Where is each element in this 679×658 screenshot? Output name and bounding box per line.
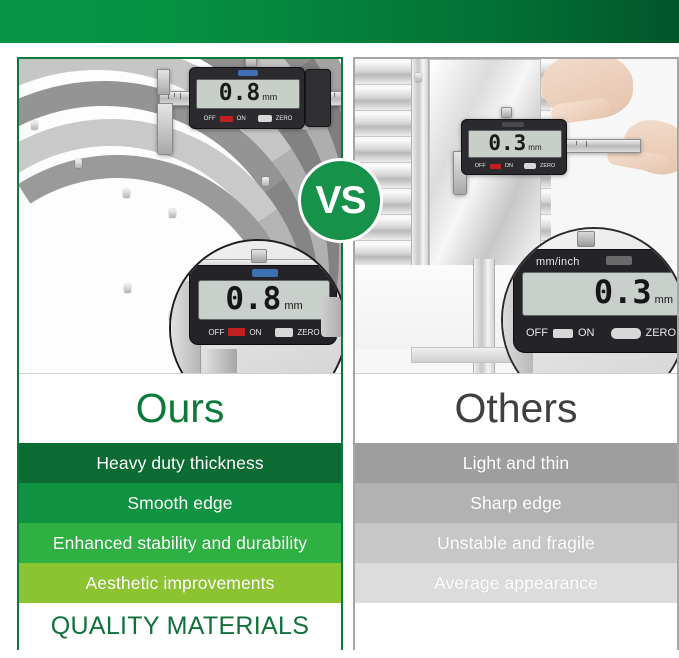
ours-feature-row-4: Aesthetic improvements	[19, 563, 341, 603]
caliper-zero-button	[258, 115, 272, 122]
panel-bolt	[262, 177, 269, 186]
magnified-zero-button	[275, 328, 293, 337]
others-heading: Others	[355, 373, 677, 443]
magnified-caliper-housing: mm/inch 0.3 mm OFF ON ZERO	[513, 249, 677, 353]
ours-feature-list: Heavy duty thickness Smooth edge Enhance…	[19, 443, 341, 603]
magnified-off-label: OFF	[526, 327, 548, 339]
caliper-jaw	[157, 69, 170, 95]
magnified-caliper-unit: mm	[655, 294, 673, 306]
others-product-photo: 0.3 mm OFF ON ZERO	[355, 59, 677, 373]
caliper-mode-strip	[502, 122, 524, 127]
caliper-mode-strip	[238, 70, 258, 76]
vs-badge: VS	[301, 161, 380, 240]
caliper-on-label: ON	[237, 116, 246, 122]
caliper-value: 0.3	[488, 131, 526, 155]
ours-feature-row-3: Enhanced stability and durability	[19, 523, 341, 563]
magnified-caliper-readout: 0.3 mm	[522, 272, 677, 316]
ours-footer-note: QUALITY MATERIALS	[19, 603, 341, 650]
top-green-banner	[0, 0, 679, 43]
magnified-zero-label: ZERO	[646, 327, 677, 339]
magnifier-circle-ours: 0.8 mm OFF ON ZERO	[169, 239, 341, 373]
caliper-button-row: OFF ON ZERO	[468, 161, 562, 171]
caliper-thumb-wheel	[245, 59, 257, 67]
caliper-zero-label: ZERO	[276, 116, 293, 122]
panel-bolt	[415, 73, 422, 82]
caliper-button-row: OFF ON ZERO	[196, 113, 300, 124]
caliper-readout-small: 0.3 mm	[468, 130, 562, 158]
caliper-readout-small: 0.8 mm	[196, 79, 300, 109]
caliper-zero-button	[524, 163, 536, 169]
magnified-mode-strip	[606, 256, 632, 265]
caliper-unit: mm	[262, 92, 277, 102]
magnified-jaw	[207, 349, 237, 373]
others-panel: 0.3 mm OFF ON ZERO	[353, 57, 679, 650]
magnified-power-switch	[553, 329, 573, 338]
panel-bolt	[123, 189, 130, 198]
ours-product-photo: 0.8 mm OFF ON ZERO	[19, 59, 341, 373]
magnifier-circle-others: mm/inch 0.3 mm OFF ON ZERO	[501, 227, 677, 373]
digital-caliper-small: 0.8 mm OFF ON ZERO	[159, 59, 341, 157]
caliper-jaw	[157, 103, 173, 155]
others-feature-list: Light and thin Sharp edge Unstable and f…	[355, 443, 677, 603]
magnified-zero-button	[611, 328, 641, 339]
caliper-off-label: OFF	[204, 116, 216, 122]
caliper-grip	[305, 69, 331, 127]
others-feature-row-1: Light and thin	[355, 443, 677, 483]
others-feature-label: Light and thin	[463, 453, 570, 474]
ours-feature-label: Enhanced stability and durability	[53, 533, 307, 554]
caliper-display-housing: 0.3 mm OFF ON ZERO	[461, 119, 567, 175]
magnified-on-label: ON	[249, 328, 261, 337]
magnified-caliper-value: 0.3	[594, 273, 652, 311]
magnified-caliper-value: 0.8	[225, 281, 281, 317]
caliper-power-switch	[220, 116, 233, 122]
others-footer-blank	[355, 603, 677, 650]
panel-bolt	[124, 284, 131, 293]
ours-heading: Ours	[19, 373, 341, 443]
others-feature-row-3: Unstable and fragile	[355, 523, 677, 563]
ours-feature-row-1: Heavy duty thickness	[19, 443, 341, 483]
magnified-power-switch	[228, 328, 245, 336]
ours-feature-label: Smooth edge	[127, 493, 232, 514]
magnified-button-row: OFF ON ZERO	[522, 324, 677, 342]
magnified-thumb-wheel	[577, 231, 595, 247]
ours-feature-label: Heavy duty thickness	[96, 453, 263, 474]
caliper-value: 0.8	[219, 80, 261, 106]
caliper-power-switch	[490, 164, 501, 169]
ours-feature-row-2: Smooth edge	[19, 483, 341, 523]
magnified-caliper-readout: 0.8 mm	[198, 280, 330, 320]
caliper-thumb-wheel	[501, 107, 512, 118]
magnified-button-row: OFF ON ZERO	[198, 325, 330, 339]
others-feature-row-2: Sharp edge	[355, 483, 677, 523]
panel-bolt	[169, 209, 176, 218]
magnified-caliper-housing: 0.8 mm OFF ON ZERO	[189, 265, 337, 345]
comparison-infographic: 0.8 mm OFF ON ZERO	[0, 0, 679, 658]
caliper-display-housing: 0.8 mm OFF ON ZERO	[189, 67, 305, 129]
magnified-thumb-wheel	[251, 249, 267, 263]
magnified-mode-strip	[252, 269, 278, 277]
corner-post	[411, 59, 429, 274]
caliper-zero-label: ZERO	[540, 163, 555, 169]
others-feature-label: Sharp edge	[470, 493, 562, 514]
magnified-off-label: OFF	[208, 328, 224, 337]
ours-feature-label: Aesthetic improvements	[86, 573, 275, 594]
magnified-on-label: ON	[578, 327, 595, 339]
caliper-off-label: OFF	[475, 163, 486, 169]
others-feature-label: Unstable and fragile	[437, 533, 595, 554]
magnified-zero-label: ZERO	[297, 328, 319, 337]
magnified-grip	[321, 297, 341, 337]
caliper-unit: mm	[528, 143, 541, 152]
caliper-on-label: ON	[505, 163, 513, 169]
digital-caliper-small: 0.3 mm OFF ON ZERO	[451, 109, 641, 201]
panel-bolt	[75, 159, 82, 168]
others-feature-label: Average appearance	[434, 573, 598, 594]
panel-bolt	[31, 121, 38, 130]
others-feature-row-4: Average appearance	[355, 563, 677, 603]
magnified-mode-label: mm/inch	[536, 256, 580, 268]
ours-panel: 0.8 mm OFF ON ZERO	[17, 57, 343, 650]
magnified-caliper-unit: mm	[284, 300, 302, 312]
